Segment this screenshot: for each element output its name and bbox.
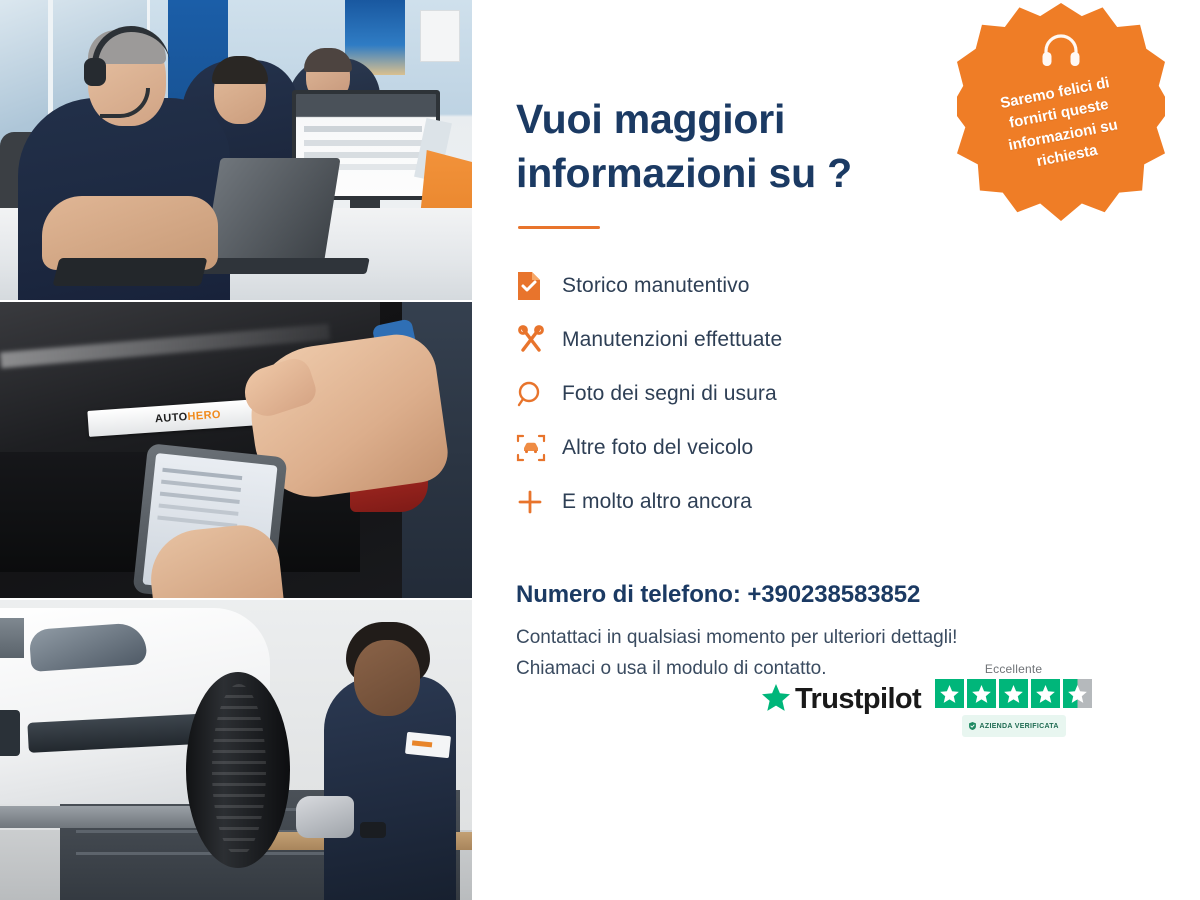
content-column: Vuoi maggiori informazioni su ? Storico … bbox=[472, 0, 1200, 900]
verified-label: AZIENDA VERIFICATA bbox=[980, 723, 1059, 730]
wristwatch bbox=[360, 822, 386, 838]
photo-column: Operatori con cuffie al telefono davanti… bbox=[0, 0, 472, 900]
trustpilot-wordmark: Trustpilot bbox=[795, 683, 921, 716]
wall-note bbox=[420, 10, 460, 62]
call-center-agents-photo: Operatori con cuffie al telefono davanti… bbox=[0, 0, 472, 300]
autohero-logo-hero: HERO bbox=[187, 409, 221, 423]
tools-wrench-screwdriver-icon bbox=[516, 325, 562, 355]
list-item: Storico manutentivo bbox=[516, 259, 1200, 313]
vehicle-inspection-photo: AUTOHERO Tecnico che misura la carrozzer… bbox=[0, 300, 472, 600]
laptop-screen bbox=[203, 158, 340, 266]
plus-icon bbox=[516, 488, 562, 516]
trustpilot-star-icon bbox=[762, 684, 790, 716]
work-glove bbox=[296, 796, 354, 838]
trustpilot-logo: Trustpilot bbox=[762, 683, 921, 716]
trustpilot-badge[interactable]: Trustpilot Eccellente bbox=[762, 662, 1092, 737]
car-scan-icon bbox=[516, 433, 562, 463]
document-check-icon bbox=[516, 271, 562, 301]
autohero-logo-auto: AUTO bbox=[155, 411, 188, 425]
list-item: Foto dei segni di usura bbox=[516, 367, 1200, 421]
star-filled bbox=[1031, 679, 1060, 708]
list-item: Altre foto del veicolo bbox=[516, 421, 1200, 475]
verified-company-badge: AZIENDA VERIFICATA bbox=[962, 715, 1066, 737]
list-item: E molto altro ancora bbox=[516, 475, 1200, 529]
feature-label: E molto altro ancora bbox=[562, 490, 752, 514]
star-filled bbox=[935, 679, 964, 708]
feature-label: Manutenzioni effettuate bbox=[562, 328, 782, 352]
headline-line-2: informazioni su ? bbox=[516, 150, 852, 196]
page-title: Vuoi maggiori informazioni su ? bbox=[516, 92, 946, 200]
tire-tread bbox=[212, 684, 266, 856]
car-side-vent bbox=[0, 710, 20, 756]
headline-line-1: Vuoi maggiori bbox=[516, 96, 785, 142]
star-filled bbox=[967, 679, 996, 708]
car-headlight bbox=[29, 622, 148, 672]
shield-check-icon bbox=[969, 717, 976, 735]
callout-badge-text: Saremo felici di fornirti queste informa… bbox=[974, 68, 1147, 182]
title-underline-rule bbox=[518, 226, 600, 229]
autohero-logo: AUTOHERO bbox=[155, 409, 222, 426]
feature-list: Storico manutentivo Manutenzioni effettu… bbox=[516, 259, 1200, 529]
callout-badge: Saremo felici di fornirti queste informa… bbox=[957, 3, 1165, 221]
phone-number-label[interactable]: Numero di telefono: +390238583852 bbox=[516, 581, 1200, 609]
feature-label: Altre foto del veicolo bbox=[562, 436, 753, 460]
uniform-logo-patch bbox=[405, 732, 451, 758]
feature-label: Storico manutentivo bbox=[562, 274, 750, 298]
magnifier-icon bbox=[516, 380, 562, 408]
contact-line-1: Contattaci in qualsiasi momento per ulte… bbox=[516, 623, 1126, 654]
headset-icon bbox=[1040, 31, 1082, 76]
rating-label: Eccellente bbox=[985, 662, 1042, 676]
mechanic-wheel-photo: Meccanico che controlla la ruota di un'a… bbox=[0, 600, 472, 900]
car-grille bbox=[0, 618, 24, 658]
star-half bbox=[1063, 679, 1092, 708]
list-item: Manutenzioni effettuate bbox=[516, 313, 1200, 367]
desk-tablet bbox=[53, 258, 208, 286]
info-banner: Operatori con cuffie al telefono davanti… bbox=[0, 0, 1200, 900]
rating-stars bbox=[935, 679, 1092, 708]
feature-label: Foto dei segni di usura bbox=[562, 382, 777, 406]
trustpilot-rating: Eccellente bbox=[935, 662, 1092, 737]
mechanic-head bbox=[354, 640, 420, 716]
star-filled bbox=[999, 679, 1028, 708]
headset-earcup-icon bbox=[84, 58, 106, 86]
